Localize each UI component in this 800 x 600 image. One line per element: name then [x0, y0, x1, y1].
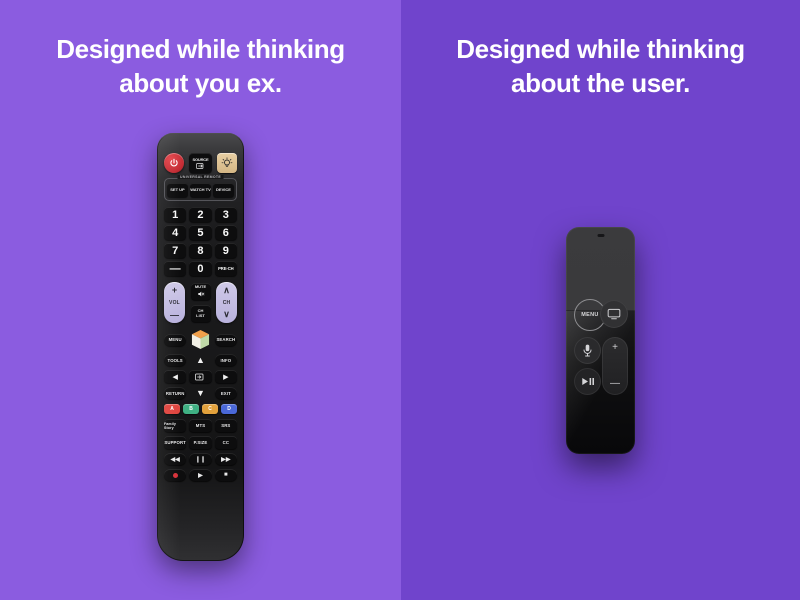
microphone-icon	[582, 344, 593, 357]
device-button[interactable]: DEVICE	[213, 183, 234, 197]
ch-list-button[interactable]: CH LIST	[191, 305, 211, 322]
color-button-c[interactable]: C	[202, 404, 218, 414]
right-headline: Designed while thinking about the user.	[401, 32, 800, 101]
channel-up[interactable]: ∧	[223, 285, 230, 296]
tools-button[interactable]: TOOLS	[164, 354, 186, 366]
play-button[interactable]: ▶	[189, 469, 211, 481]
volume-up[interactable]: +	[172, 285, 177, 295]
mute-icon	[197, 290, 205, 298]
search-button[interactable]: SEARCH	[215, 334, 237, 346]
function-row-1: Family Story MTS SRS	[164, 419, 237, 432]
smart-hub-cube-icon	[191, 329, 210, 350]
menu-button[interactable]: MENU	[164, 334, 186, 346]
transport-row-1: ◀◀ ❙❙ ▶▶	[164, 453, 237, 465]
return-button[interactable]: RETURN	[164, 387, 186, 399]
p-size-button[interactable]: P.SIZE	[189, 436, 211, 449]
color-button-b[interactable]: B	[183, 404, 199, 414]
left-headline: Designed while thinking about you ex.	[0, 32, 401, 101]
dash-button[interactable]: —	[164, 261, 186, 276]
num-0[interactable]: 0	[189, 261, 211, 276]
left-enter-right-row: ◀ ▶	[164, 370, 237, 383]
apple-volume-rocker[interactable]: + —	[602, 337, 628, 395]
right-arrow-button[interactable]: ▶	[215, 370, 237, 383]
tv-light-button[interactable]	[217, 153, 237, 173]
rewind-button[interactable]: ◀◀	[164, 453, 186, 465]
apple-volume-down[interactable]: —	[610, 379, 620, 389]
pause-button[interactable]: ❙❙	[189, 453, 211, 465]
color-buttons-row: A B C D	[164, 404, 237, 414]
right-headline-line1: Designed while thinking	[456, 34, 744, 64]
num-8[interactable]: 8	[189, 243, 211, 258]
function-row-2: SUPPORT P.SIZE CC	[164, 436, 237, 449]
volume-rocker[interactable]: + VOL —	[164, 282, 185, 323]
up-arrow-button[interactable]: ▲	[189, 355, 211, 365]
return-down-exit-row: RETURN ▼ EXIT	[164, 387, 237, 399]
channel-down[interactable]: ∨	[223, 309, 230, 320]
volume-down[interactable]: —	[170, 310, 179, 320]
mute-label: MUTE	[195, 285, 206, 289]
num-2[interactable]: 2	[189, 207, 211, 222]
info-button[interactable]: INFO	[215, 354, 237, 366]
color-button-d[interactable]: D	[221, 404, 237, 414]
num-5[interactable]: 5	[189, 225, 211, 240]
source-label: SOURCE	[193, 157, 209, 162]
watch-tv-button[interactable]: WATCH TV	[190, 183, 211, 197]
num-9[interactable]: 9	[215, 243, 237, 258]
record-dot-icon	[173, 473, 178, 478]
menu-hub-search-row: MENU SEARCH	[164, 329, 237, 350]
source-icon	[196, 163, 205, 169]
power-button[interactable]	[164, 153, 184, 173]
tv-home-icon	[607, 308, 621, 320]
ir-emitter-icon	[597, 234, 604, 237]
record-button[interactable]	[164, 469, 186, 481]
stop-button[interactable]: ■	[215, 469, 237, 481]
left-panel: Designed while thinking about you ex. SO…	[0, 0, 401, 600]
number-pad: 1 2 3 4 5 6 7 8 9 — 0 PRE-CH	[164, 207, 237, 276]
volume-label: VOL	[169, 300, 180, 306]
apple-tv-remote[interactable]: MENU + —	[566, 227, 635, 454]
smart-hub-button[interactable]	[189, 329, 211, 350]
apple-tv-home-button[interactable]	[600, 300, 628, 328]
exit-button[interactable]: EXIT	[215, 387, 237, 399]
samsung-remote-face: SOURCE	[164, 153, 237, 485]
samsung-top-row: SOURCE	[164, 153, 237, 173]
source-button[interactable]: SOURCE	[189, 153, 212, 173]
channel-rocker[interactable]: ∧ CH ∨	[216, 282, 237, 323]
num-3[interactable]: 3	[215, 207, 237, 222]
setup-button[interactable]: SET UP	[167, 183, 188, 197]
comparison-stage: Designed while thinking about you ex. SO…	[0, 0, 800, 600]
universal-remote-group: UNIVERSAL REMOTE SET UP WATCH TV DEVICE	[164, 178, 237, 201]
mute-button[interactable]: MUTE	[191, 283, 211, 300]
ch-list-label-bottom: LIST	[196, 314, 205, 318]
power-icon	[169, 158, 179, 168]
enter-icon	[195, 373, 205, 381]
right-headline-line2: about the user.	[401, 66, 800, 100]
num-4[interactable]: 4	[164, 225, 186, 240]
fast-forward-button[interactable]: ▶▶	[215, 453, 237, 465]
samsung-remote[interactable]: SOURCE	[157, 133, 244, 561]
cc-button[interactable]: CC	[215, 436, 237, 449]
apple-volume-up[interactable]: +	[612, 343, 618, 353]
universal-remote-caption: UNIVERSAL REMOTE	[177, 175, 224, 179]
mute-chlist-column: MUTE CH LIST	[191, 283, 211, 322]
light-bulb-icon	[221, 157, 233, 169]
num-1[interactable]: 1	[164, 207, 186, 222]
num-6[interactable]: 6	[215, 225, 237, 240]
universal-remote-buttons: SET UP WATCH TV DEVICE	[167, 183, 234, 197]
left-arrow-button[interactable]: ◀	[164, 370, 186, 383]
mts-button[interactable]: MTS	[189, 419, 211, 432]
left-headline-line1: Designed while thinking	[56, 34, 344, 64]
left-headline-line2: about you ex.	[0, 66, 401, 100]
play-pause-icon	[581, 377, 595, 386]
tools-up-info-row: TOOLS ▲ INFO	[164, 354, 237, 366]
transport-row-2: ▶ ■	[164, 469, 237, 481]
apple-play-pause-button[interactable]	[574, 368, 601, 395]
support-button[interactable]: SUPPORT	[164, 436, 186, 449]
num-7[interactable]: 7	[164, 243, 186, 258]
touch-surface[interactable]	[566, 227, 635, 311]
family-story-button[interactable]: Family Story	[164, 419, 186, 432]
srs-button[interactable]: SRS	[215, 419, 237, 432]
down-arrow-button[interactable]: ▼	[189, 388, 211, 398]
pre-ch-button[interactable]: PRE-CH	[215, 261, 237, 276]
channel-label: CH	[223, 300, 231, 306]
enter-button[interactable]	[189, 370, 211, 383]
volume-channel-row: + VOL — MUTE CH	[164, 282, 237, 323]
apple-siri-button[interactable]	[574, 337, 601, 364]
color-button-a[interactable]: A	[164, 404, 180, 414]
